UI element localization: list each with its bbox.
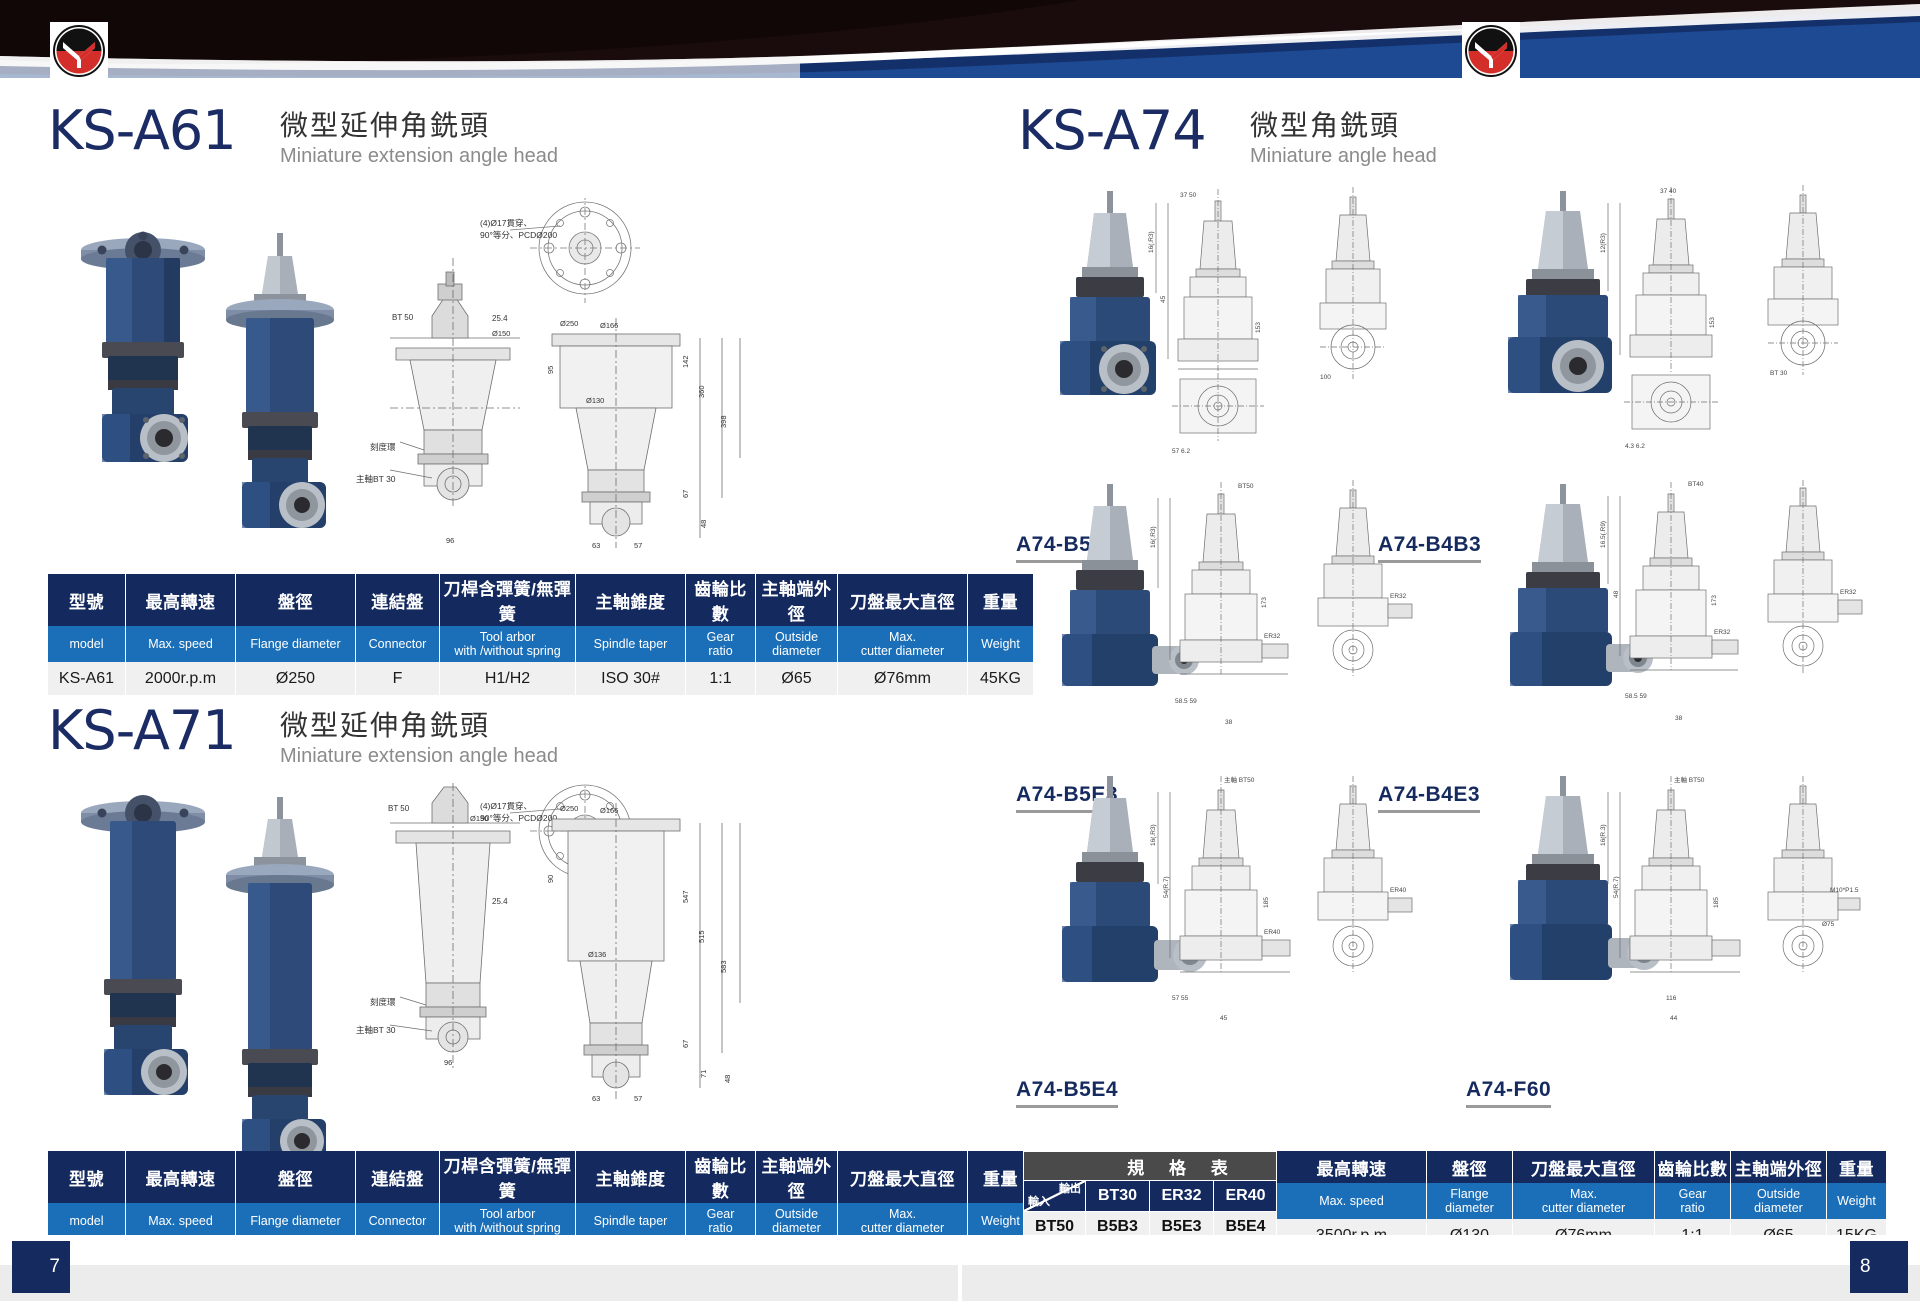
a61-dia-flange: Ø250 xyxy=(560,319,578,328)
a74-b5e3-dimension-drawings xyxy=(1158,480,1412,678)
svg-text:153: 153 xyxy=(1709,317,1716,328)
svg-text:116: 116 xyxy=(1666,995,1677,1002)
svg-text:ER32: ER32 xyxy=(1264,633,1281,640)
col-outside-cn: 主軸端外徑 xyxy=(756,1151,838,1203)
ks-a61-photo-angled xyxy=(226,233,334,528)
spec-header-cn-row: 型號 最高轉速 盤徑 連結盤 刀桿含彈簧/無彈簧 主軸錐度 齒輪比數 主軸端外徑… xyxy=(48,574,1034,626)
a71-h-515: 515 xyxy=(697,930,706,943)
a71-scale-ring-note: 刻度環 xyxy=(370,997,396,1007)
svg-text:主軸 BT50: 主軸 BT50 xyxy=(1674,775,1705,784)
svg-text:M10*P1.5: M10*P1.5 xyxy=(1830,887,1859,894)
svg-text:BT40: BT40 xyxy=(1688,481,1704,488)
col-flange-cn: 盤徑 xyxy=(236,1151,356,1203)
a74-b4e3-artwork: BT40 16.5(.R9) 48 ER32 173 58.5 59 38 ER… xyxy=(1470,478,1910,778)
a74-b4b3-artwork: 37 40 12(R3) 4.3 6.2 153 BT 30 xyxy=(1470,183,1910,483)
svg-text:16.5(.R9): 16.5(.R9) xyxy=(1600,521,1607,548)
col-toolarbor-cn: 刀桿含彈簧/無彈簧 xyxy=(440,1151,576,1203)
product-name-en: Miniature angle head xyxy=(1250,143,1437,169)
a61-h-360: 360 xyxy=(697,385,706,398)
col-flange-en: Flange diameter xyxy=(1427,1183,1513,1219)
val-toolarbor: H1/H2 xyxy=(440,662,576,695)
val-taper: ISO 30# xyxy=(576,662,686,695)
col-taper-cn: 主軸錐度 xyxy=(576,574,686,626)
page-number-right: 8 xyxy=(1850,1241,1908,1293)
svg-text:ER32: ER32 xyxy=(1714,629,1731,636)
col-weight-en: Weight xyxy=(1827,1183,1887,1219)
a61-h-67: 67 xyxy=(681,490,690,498)
a71-h-63: 63 xyxy=(592,1094,600,1103)
a61-dia-body: Ø166 xyxy=(600,321,618,330)
col-cutter-en: Max. cutter diameter xyxy=(838,626,968,662)
a71-spindle-note: 主軸BT 30 xyxy=(356,1025,396,1035)
ks-a61-flange-topview xyxy=(510,198,640,303)
a61-hole-note-1: (4)Ø17貫穿、 xyxy=(480,218,532,228)
a74-b5e3-photo xyxy=(1062,484,1199,686)
svg-text:153: 153 xyxy=(1255,322,1262,333)
svg-text:主軸 BT50: 主軸 BT50 xyxy=(1224,775,1255,784)
product-name-en: Miniature extension angle head xyxy=(280,743,558,769)
a71-dia-inner: Ø150 xyxy=(470,814,488,823)
svg-text:185: 185 xyxy=(1263,897,1270,908)
matrix-col-er40: ER40 xyxy=(1214,1181,1278,1212)
ks-a71-photo-angled xyxy=(226,797,334,1163)
a61-scale-ring-note: 刻度環 xyxy=(370,442,396,452)
svg-text:45: 45 xyxy=(1160,295,1167,303)
a74-b5b3-dimension-drawings xyxy=(1156,187,1386,441)
col-connector-en: Connector xyxy=(356,626,440,662)
a74-b5e4-dimension-drawings xyxy=(1158,776,1412,974)
col-cutter-cn: 刀盤最大直徑 xyxy=(1513,1151,1655,1183)
a61-spindle-note: 主軸BT 30 xyxy=(356,474,396,484)
svg-text:ER40: ER40 xyxy=(1264,929,1281,936)
col-model-cn: 型號 xyxy=(48,1151,126,1203)
a74-b5b3-photo xyxy=(1060,191,1156,395)
svg-text:4.3 6.2: 4.3 6.2 xyxy=(1625,443,1645,450)
col-gear-cn: 齒輪比數 xyxy=(1655,1151,1731,1183)
product-code: KS-A61 xyxy=(48,99,236,162)
ks-a71-elevation-view xyxy=(552,803,740,1101)
col-toolarbor-en: Tool arbor with /without spring xyxy=(440,1203,576,1239)
col-taper-en: Spindle taper xyxy=(576,626,686,662)
product-name-cn: 微型延伸角銑頭 xyxy=(280,109,558,143)
product-title-ks-a74: KS-A74 微型角銑頭 Miniature angle head xyxy=(1018,103,1658,173)
a61-h-57: 57 xyxy=(634,541,642,550)
a74-b4b3-photo xyxy=(1508,191,1612,393)
svg-text:37 50: 37 50 xyxy=(1180,192,1197,199)
col-connector-cn: 連結盤 xyxy=(356,1151,440,1203)
col-taper-en: Spindle taper xyxy=(576,1203,686,1239)
col-toolarbor-cn: 刀桿含彈簧/無彈簧 xyxy=(440,574,576,626)
col-maxspeed-en: Max. speed xyxy=(126,1203,236,1239)
spec-header-en-row: model Max. speed Flange diameter Connect… xyxy=(48,1203,1034,1239)
a71-h-96: 96 xyxy=(444,1058,452,1067)
a74-b4b3-dimension-drawings xyxy=(1608,185,1838,429)
col-cutter-cn: 刀盤最大直徑 xyxy=(838,574,968,626)
svg-text:173: 173 xyxy=(1711,595,1718,606)
a61-h-95: 95 xyxy=(546,366,555,374)
product-name-cn: 微型角銑頭 xyxy=(1250,109,1437,143)
banner-graphic xyxy=(0,0,1920,78)
product-code: KS-A71 xyxy=(48,699,236,762)
matrix-axis-input: 輸入 xyxy=(1028,1197,1050,1208)
ks-a61-elevation-view xyxy=(552,318,740,548)
a74-f60-artwork: 主軸 BT50 16(R.3) 54(R.7) 185 116 44 M10*P… xyxy=(1470,768,1910,1068)
a71-h-48: 48 xyxy=(723,1075,732,1083)
col-model-en: model xyxy=(48,1203,126,1239)
svg-text:ER32: ER32 xyxy=(1840,589,1857,596)
a61-h-48: 48 xyxy=(699,520,708,528)
a74-f60-dimension-drawings xyxy=(1608,776,1860,974)
brand-logo-left xyxy=(50,22,108,80)
svg-text:58.5 59: 58.5 59 xyxy=(1175,698,1197,705)
a74-b5e4-artwork: 主軸 BT50 16(.R3) 54(R.7) ER40 185 57 55 4… xyxy=(1020,768,1460,1068)
col-cutter-en: Max. cutter diameter xyxy=(1513,1183,1655,1219)
footer-strip xyxy=(0,1265,1920,1301)
col-maxspeed-en: Max. speed xyxy=(1277,1183,1427,1219)
a71-h-57: 57 xyxy=(634,1094,642,1103)
catalog-spread: KS-A61 微型延伸角銑頭 Miniature extension angle… xyxy=(0,78,1920,1311)
page-number-left: 7 xyxy=(12,1241,70,1293)
val-cutter: Ø76mm xyxy=(838,662,968,695)
val-connector: F xyxy=(356,662,440,695)
svg-text:BT 30: BT 30 xyxy=(1770,370,1788,377)
a71-hole-note-2: 90°等分、PCDØ200 xyxy=(480,813,557,823)
val-model: KS-A61 xyxy=(48,662,126,695)
kessler-y-logo-icon xyxy=(50,22,108,80)
page-banner xyxy=(0,0,1920,78)
svg-text:38: 38 xyxy=(1675,715,1683,722)
spec-data-row: KS-A61 2000r.p.m Ø250 F H1/H2 ISO 30# 1:… xyxy=(48,662,1034,695)
a71-dia-nose: Ø136 xyxy=(588,950,606,959)
ks-a71-photo-front xyxy=(81,795,205,1095)
col-flange-cn: 盤徑 xyxy=(236,574,356,626)
a61-hole-note-2: 90°等分、PCDØ200 xyxy=(480,230,557,240)
svg-text:BT50: BT50 xyxy=(1238,483,1254,490)
a61-dia-inner: Ø150 xyxy=(492,329,510,338)
a71-h-90: 90 xyxy=(546,875,555,883)
svg-text:54(R.7): 54(R.7) xyxy=(1163,876,1170,898)
col-gear-en: Gear ratio xyxy=(1655,1183,1731,1219)
svg-text:45: 45 xyxy=(1220,1015,1228,1022)
col-maxspeed-cn: 最高轉速 xyxy=(1277,1151,1427,1183)
col-connector-en: Connector xyxy=(356,1203,440,1239)
col-flange-cn: 盤徑 xyxy=(1427,1151,1513,1183)
a74-b5b3-artwork: 37 50 16(.R3) 45 57 6.2 153 100 xyxy=(1020,183,1460,483)
svg-text:ER40: ER40 xyxy=(1390,887,1407,894)
a74-b5e3-artwork: BT50 16(.R3) ER32 173 58.5 59 38 ER32 xyxy=(1020,478,1460,778)
svg-text:16(R.3): 16(R.3) xyxy=(1600,824,1607,846)
footer-gutter xyxy=(958,1265,962,1301)
a61-h-96: 96 xyxy=(446,536,454,545)
a71-hole-note-1: (4)Ø17貫穿、 xyxy=(480,801,532,811)
spec-header-cn-row: 型號 最高轉速 盤徑 連結盤 刀桿含彈簧/無彈簧 主軸錐度 齒輪比數 主軸端外徑… xyxy=(48,1151,1034,1203)
spec-header-cn-row: 最高轉速 盤徑 刀盤最大直徑 齒輪比數 主軸端外徑 重量 xyxy=(1277,1151,1887,1183)
a71-h-547: 547 xyxy=(681,890,690,903)
ks-a71-artwork: (4)Ø17貫穿、 90°等分、PCDØ200 25.4 BT 50 Ø150 … xyxy=(40,783,930,1203)
matrix-axis-output: 輸出 xyxy=(1059,1184,1081,1195)
spec-header-en-row: Max. speed Flange diameter Max. cutter d… xyxy=(1277,1183,1887,1219)
matrix-col-er32: ER32 xyxy=(1150,1181,1214,1212)
svg-text:ER32: ER32 xyxy=(1390,593,1407,600)
ks-a61-artwork: (4)Ø17貫穿、 90°等分、PCDØ200 25.4 xyxy=(40,198,930,618)
svg-text:Ø75: Ø75 xyxy=(1822,921,1835,928)
col-outside-en: Outside diameter xyxy=(756,1203,838,1239)
page-footer: 7 8 xyxy=(0,1235,1920,1311)
svg-text:16(.R3): 16(.R3) xyxy=(1150,824,1157,846)
a71-bt-label: BT 50 xyxy=(388,804,410,813)
svg-text:57 55: 57 55 xyxy=(1172,995,1189,1002)
col-toolarbor-en: Tool arbor with /without spring xyxy=(440,626,576,662)
col-flange-en: Flange diameter xyxy=(236,626,356,662)
a61-h-142: 142 xyxy=(681,355,690,368)
svg-text:44: 44 xyxy=(1670,1015,1678,1022)
col-weight-cn: 重量 xyxy=(1827,1151,1887,1183)
model-caption-a74-f60: A74-F60 xyxy=(1466,1078,1551,1108)
svg-text:54(R.7): 54(R.7) xyxy=(1613,876,1620,898)
svg-text:173: 173 xyxy=(1261,597,1268,608)
a61-h-398: 398 xyxy=(719,415,728,428)
col-connector-cn: 連結盤 xyxy=(356,574,440,626)
a71-dia-body: Ø166 xyxy=(600,806,618,815)
matrix-corner-cell: 輸入 輸出 xyxy=(1024,1181,1086,1212)
a71-h-67: 67 xyxy=(681,1040,690,1048)
col-cutter-cn: 刀盤最大直徑 xyxy=(838,1151,968,1203)
val-gear: 1:1 xyxy=(686,662,756,695)
a71-h-71: 71 xyxy=(699,1070,708,1078)
svg-text:100: 100 xyxy=(1320,374,1331,381)
a61-bt-label: BT 50 xyxy=(392,313,414,322)
spec-table-ks-a61: 型號 最高轉速 盤徑 連結盤 刀桿含彈簧/無彈簧 主軸錐度 齒輪比數 主軸端外徑… xyxy=(47,574,1034,695)
spec-header-en-row: model Max. speed Flange diameter Connect… xyxy=(48,626,1034,662)
product-name-en: Miniature extension angle head xyxy=(280,143,558,169)
svg-text:58.5 59: 58.5 59 xyxy=(1625,693,1647,700)
a74-b4e3-dimension-drawings xyxy=(1608,480,1862,674)
svg-text:38: 38 xyxy=(1225,719,1233,726)
a61-dia-nose: Ø130 xyxy=(586,396,604,405)
svg-text:12(R3): 12(R3) xyxy=(1600,233,1607,253)
ks-a61-section-view xyxy=(390,258,520,508)
svg-text:37 40: 37 40 xyxy=(1660,188,1677,195)
svg-text:16(.R3): 16(.R3) xyxy=(1150,526,1157,548)
col-model-en: model xyxy=(48,626,126,662)
matrix-col-bt30: BT30 xyxy=(1086,1181,1150,1212)
svg-text:48: 48 xyxy=(1613,590,1620,598)
col-maxspeed-cn: 最高轉速 xyxy=(126,1151,236,1203)
a71-dim-top: 25.4 xyxy=(492,897,508,906)
col-outside-en: Outside diameter xyxy=(1731,1183,1827,1219)
product-code: KS-A74 xyxy=(1018,99,1206,162)
product-name-cn: 微型延伸角銑頭 xyxy=(280,709,558,743)
a61-dim-top: 25.4 xyxy=(492,314,508,323)
col-gear-en: Gear ratio xyxy=(686,626,756,662)
product-title-ks-a71: KS-A71 微型延伸角銑頭 Miniature extension angle… xyxy=(48,703,688,773)
col-outside-cn: 主軸端外徑 xyxy=(1731,1151,1827,1183)
model-caption-a74-b5e4: A74-B5E4 xyxy=(1016,1078,1118,1108)
col-gear-cn: 齒輪比數 xyxy=(686,1151,756,1203)
col-outside-cn: 主軸端外徑 xyxy=(756,574,838,626)
col-model-cn: 型號 xyxy=(48,574,126,626)
ks-a71-section-view xyxy=(390,783,520,1068)
product-title-ks-a61: KS-A61 微型延伸角銑頭 Miniature extension angle… xyxy=(48,103,688,173)
svg-text:57 6.2: 57 6.2 xyxy=(1172,448,1190,455)
svg-text:16(.R3): 16(.R3) xyxy=(1148,231,1155,253)
col-flange-en: Flange diameter xyxy=(236,1203,356,1239)
a61-h-63: 63 xyxy=(592,541,600,550)
ks-a61-photo-front xyxy=(81,232,205,463)
kessler-y-logo-icon xyxy=(1462,22,1520,80)
col-gear-cn: 齒輪比數 xyxy=(686,574,756,626)
col-gear-en: Gear ratio xyxy=(686,1203,756,1239)
col-maxspeed-en: Max. speed xyxy=(126,626,236,662)
col-maxspeed-cn: 最高轉速 xyxy=(126,574,236,626)
col-taper-cn: 主軸錐度 xyxy=(576,1151,686,1203)
val-flange: Ø250 xyxy=(236,662,356,695)
col-cutter-en: Max. cutter diameter xyxy=(838,1203,968,1239)
val-maxspeed: 2000r.p.m xyxy=(126,662,236,695)
val-outside: Ø65 xyxy=(756,662,838,695)
a71-dia-flange: Ø250 xyxy=(560,804,578,813)
a71-h-583: 583 xyxy=(719,960,728,973)
brand-logo-right xyxy=(1462,22,1520,80)
col-outside-en: Outside diameter xyxy=(756,626,838,662)
svg-text:185: 185 xyxy=(1713,897,1720,908)
